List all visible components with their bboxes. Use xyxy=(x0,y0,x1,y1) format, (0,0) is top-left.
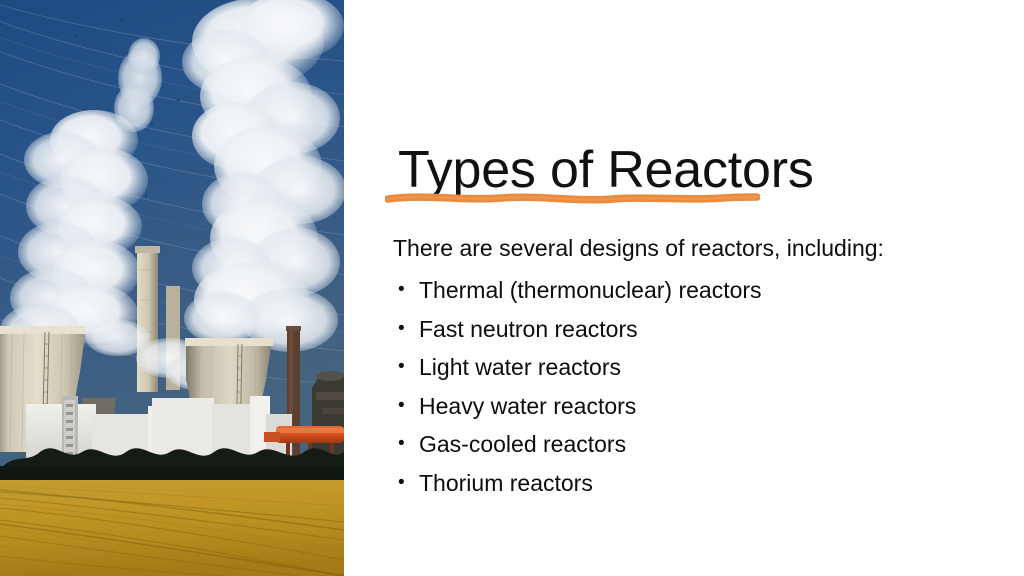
accent-squiggle-icon xyxy=(385,186,760,208)
presentation-slide: Types of Reactors There are several desi… xyxy=(0,0,1024,576)
bullet-icon: • xyxy=(398,387,405,426)
list-item: • Fast neutron reactors xyxy=(393,310,993,349)
reactor-types-list: • Thermal (thermonuclear) reactors • Fas… xyxy=(393,271,993,503)
intro-line: There are several designs of reactors, i… xyxy=(393,231,993,265)
list-item-label: Heavy water reactors xyxy=(419,393,636,419)
list-item: • Light water reactors xyxy=(393,348,993,387)
bullet-icon: • xyxy=(398,271,405,310)
power-plant-photo xyxy=(0,0,344,576)
list-item-label: Gas-cooled reactors xyxy=(419,431,626,457)
list-item-label: Thorium reactors xyxy=(419,470,593,496)
bullet-icon: • xyxy=(398,464,405,503)
bullet-icon: • xyxy=(398,310,405,349)
title-underline-accent xyxy=(385,186,760,208)
power-plant-illustration xyxy=(0,0,344,576)
list-item: • Thorium reactors xyxy=(393,464,993,503)
list-item-label: Light water reactors xyxy=(419,354,621,380)
bullet-icon: • xyxy=(398,348,405,387)
bullet-icon: • xyxy=(398,425,405,464)
list-item: • Thermal (thermonuclear) reactors xyxy=(393,271,993,310)
body-text-block: There are several designs of reactors, i… xyxy=(393,231,993,503)
list-item-label: Thermal (thermonuclear) reactors xyxy=(419,277,762,303)
list-item-label: Fast neutron reactors xyxy=(419,316,638,342)
list-item: • Heavy water reactors xyxy=(393,387,993,426)
slide-content: Types of Reactors There are several desi… xyxy=(344,0,1024,576)
list-item: • Gas-cooled reactors xyxy=(393,425,993,464)
